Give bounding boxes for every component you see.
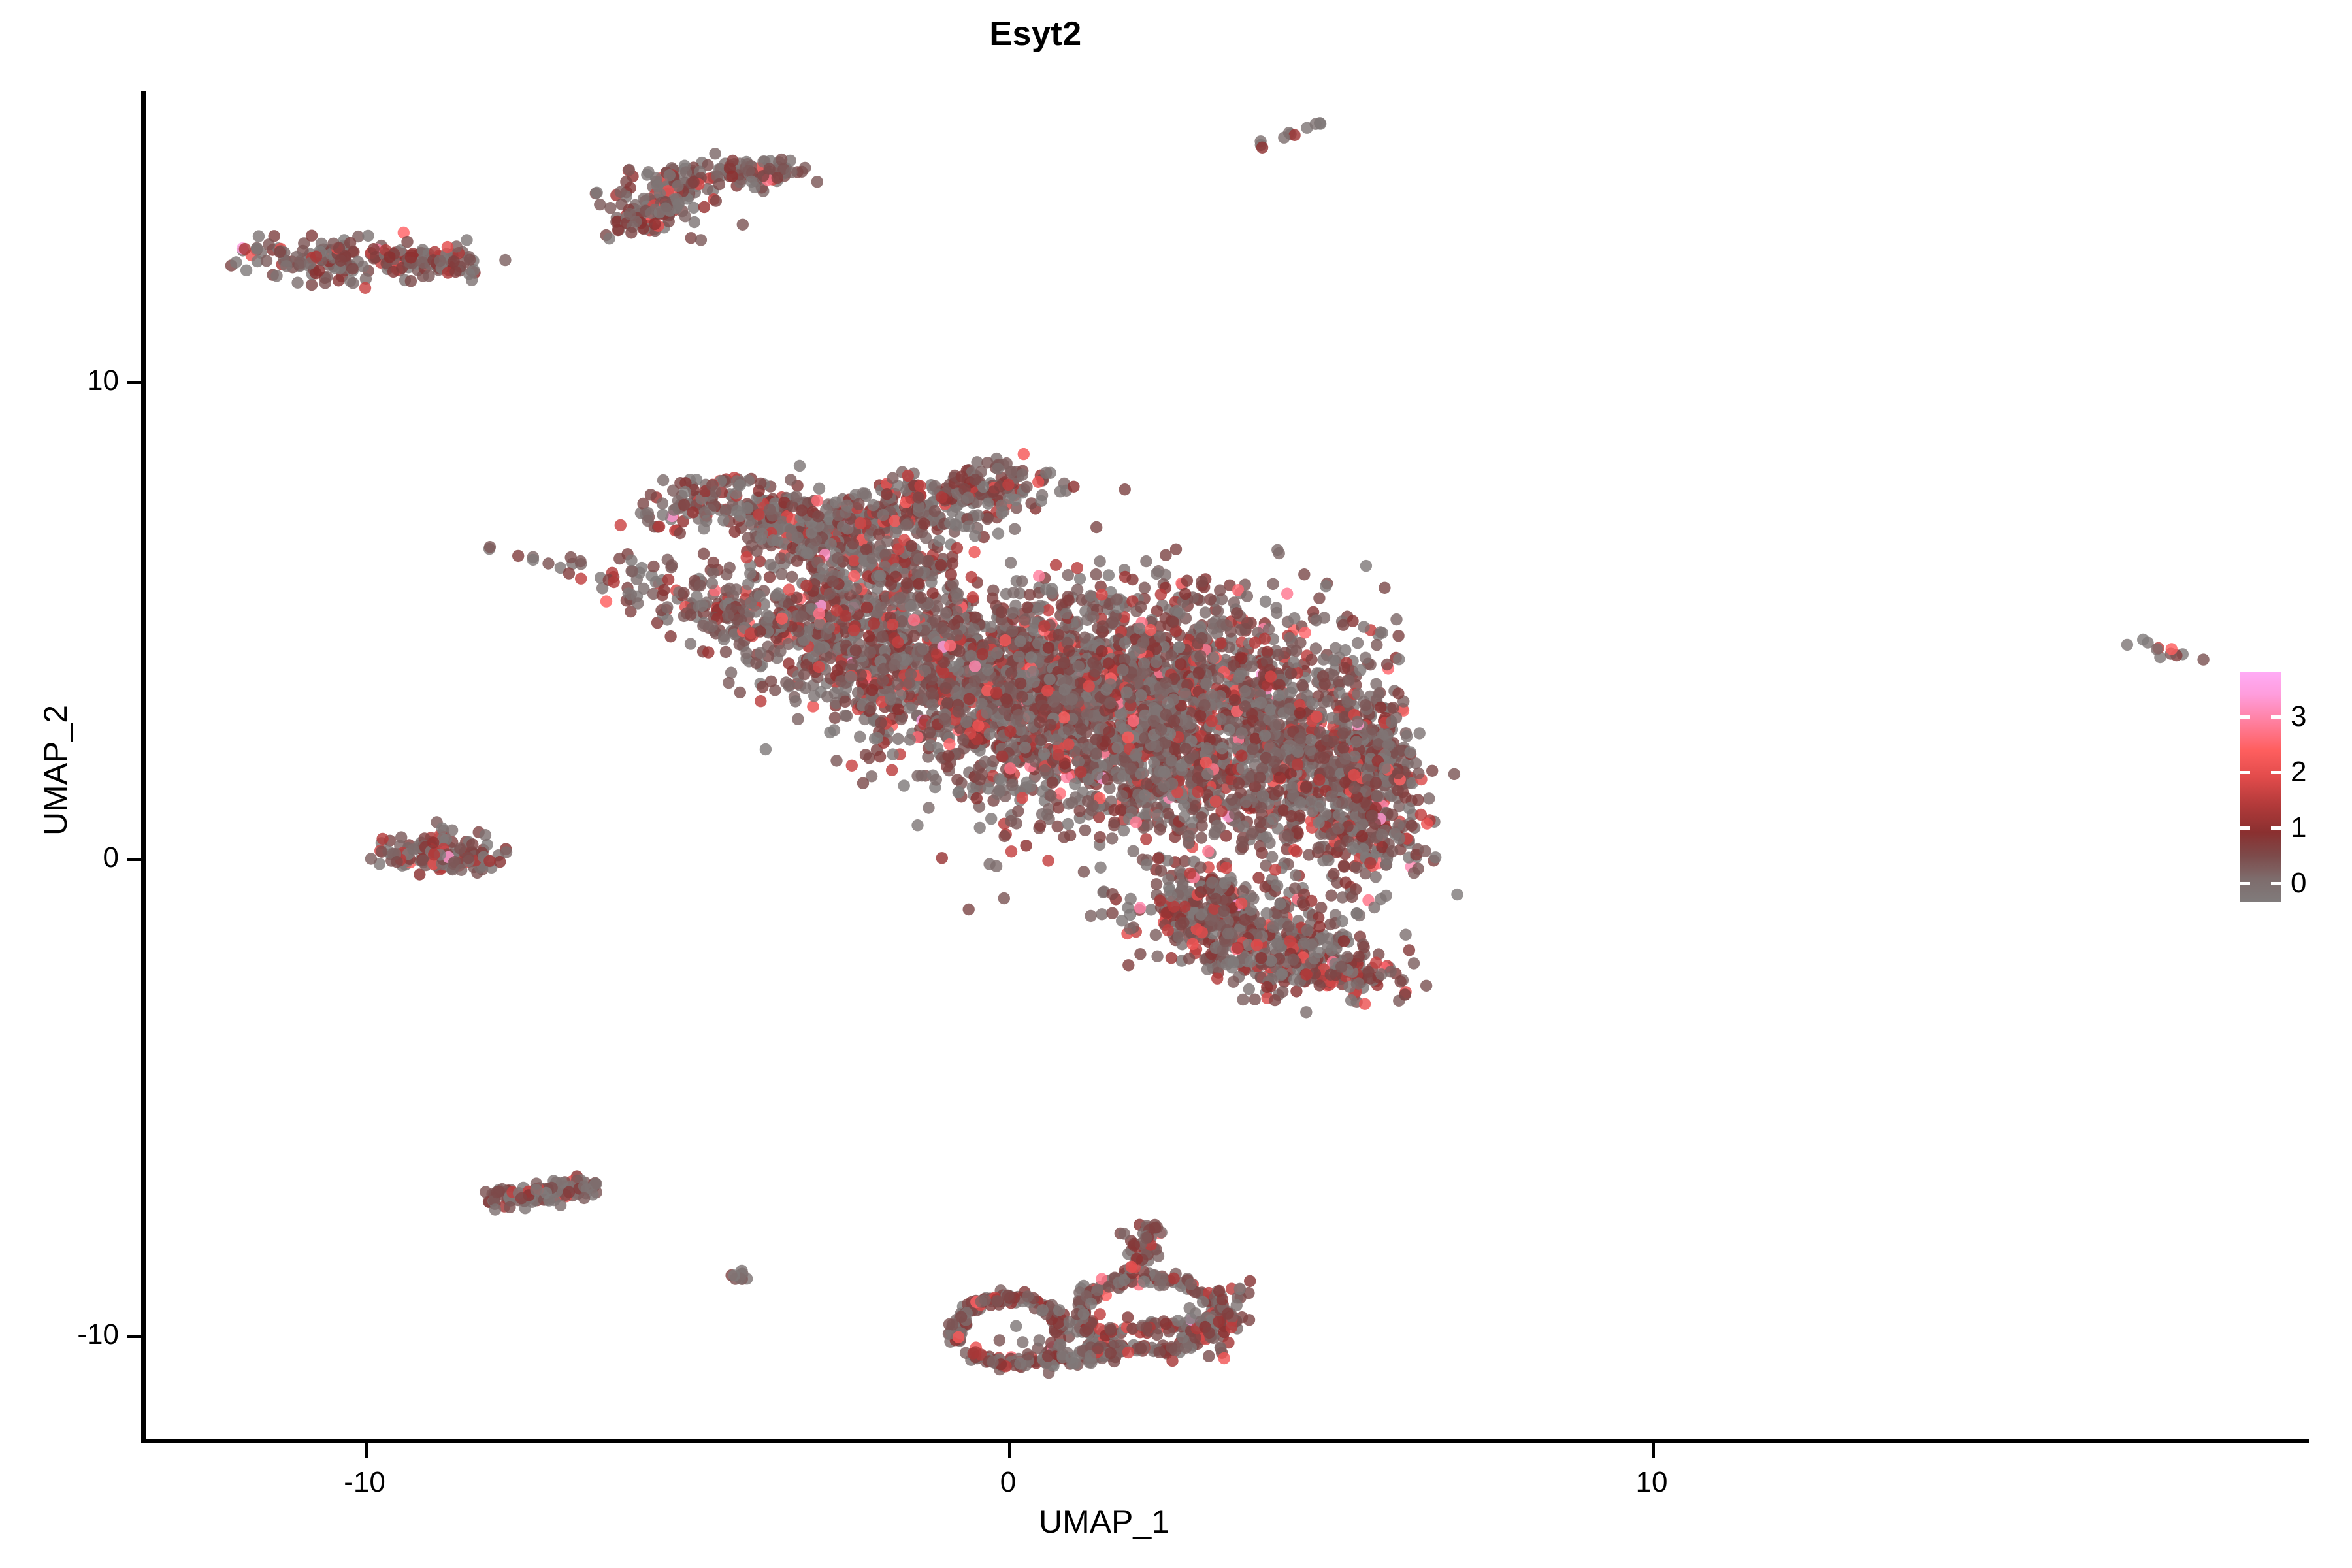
colorbar-tick-3-right: [2271, 715, 2281, 719]
colorbar-tick-2-right: [2271, 771, 2281, 774]
x-tick-10: [1652, 1443, 1655, 1458]
colorbar-label-3: 3: [2291, 700, 2306, 733]
y-ticklabel-10: 10: [87, 365, 119, 397]
x-tick-0: [1008, 1443, 1011, 1458]
colorbar-tick-0-left: [2240, 882, 2250, 885]
colorbar-gradient: [2240, 672, 2281, 902]
colorbar-label-1: 1: [2291, 811, 2306, 844]
y-axis-title: UMAP_2: [37, 574, 74, 966]
plot-title: Esyt2: [0, 14, 2352, 54]
colorbar-tick-1-right: [2271, 826, 2281, 830]
y-tick-neg10: [127, 1335, 141, 1338]
y-ticklabel-0: 0: [103, 841, 119, 874]
x-ticklabel-neg10: -10: [273, 1466, 456, 1499]
scatter-points-layer: [144, 91, 2306, 1441]
colorbar-tick-2-left: [2240, 771, 2250, 774]
colorbar-tick-3-left: [2240, 715, 2250, 719]
y-ticklabel-neg10: -10: [77, 1318, 119, 1351]
y-axis-line: [141, 91, 146, 1443]
colorbar-tick-0-right: [2271, 882, 2281, 885]
y-tick-10: [127, 381, 141, 384]
plot-panel: [144, 91, 2306, 1441]
x-tick-neg10: [365, 1443, 368, 1458]
y-tick-0: [127, 858, 141, 861]
x-ticklabel-0: 0: [917, 1466, 1100, 1499]
x-ticklabel-10: 10: [1560, 1466, 1743, 1499]
x-axis-title: UMAP_1: [0, 1503, 2208, 1541]
legend-colorbar[interactable]: 3 2 1 0: [2240, 672, 2281, 902]
colorbar-label-0: 0: [2291, 867, 2306, 900]
x-axis-line: [141, 1439, 2309, 1443]
colorbar-label-2: 2: [2291, 756, 2306, 789]
colorbar-tick-1-left: [2240, 826, 2250, 830]
umap-feature-plot: Esyt2 10 0 -10 -10 0 10 UMAP_1 UMAP_2 3 …: [0, 0, 2352, 1568]
